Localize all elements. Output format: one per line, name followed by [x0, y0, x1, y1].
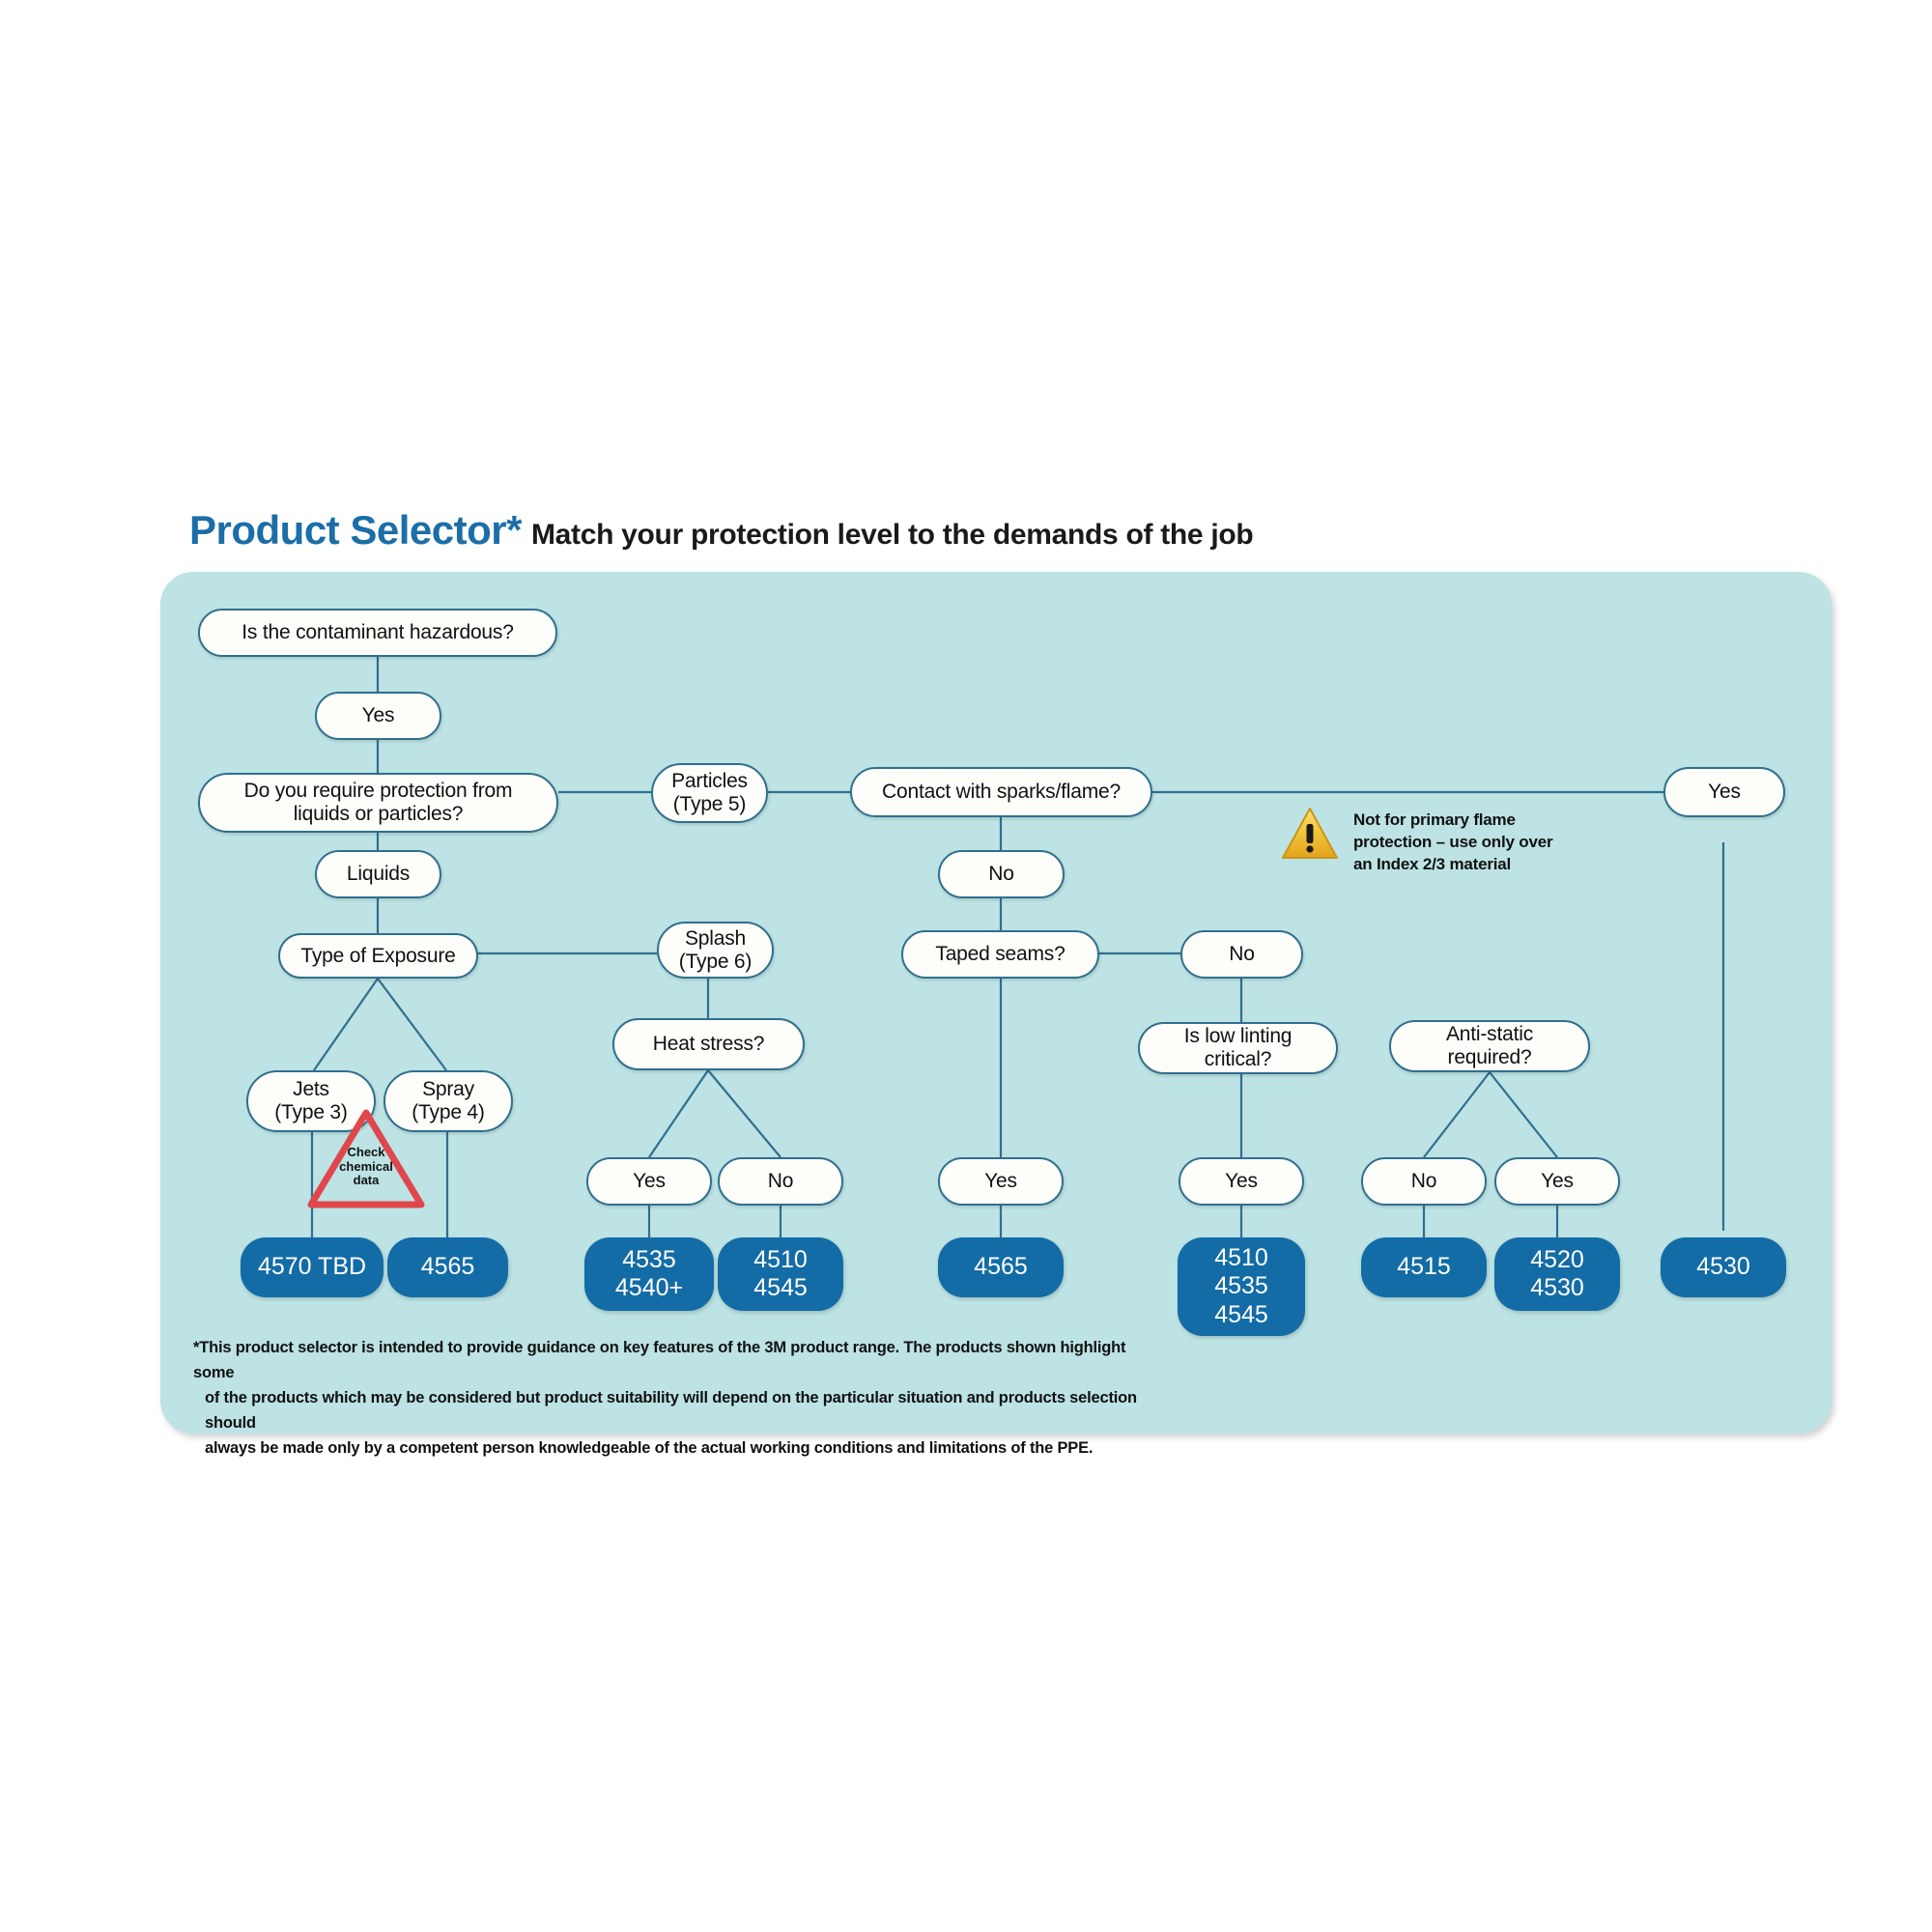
- node-answer-taped-seams-yes[interactable]: Yes: [938, 1157, 1064, 1206]
- product-box-flame-yes[interactable]: 4530: [1661, 1237, 1786, 1297]
- product-box-jets[interactable]: 4570 TBD: [241, 1237, 384, 1297]
- check-chemical-data-warning: Check chemical data: [305, 1107, 427, 1211]
- flame-warning-note: Not for primary flame protection – use o…: [1280, 806, 1552, 876]
- node-label: Liquids: [347, 863, 410, 886]
- product-box-taped-yes[interactable]: 4565: [938, 1237, 1064, 1297]
- node-label: No: [1411, 1170, 1436, 1193]
- node-label: Anti-static required?: [1446, 1023, 1533, 1068]
- footnote-line-2: of the products which may be considered …: [193, 1385, 1169, 1435]
- node-label: Yes: [633, 1170, 666, 1193]
- node-answer-yes-sparks[interactable]: Yes: [1663, 767, 1785, 817]
- node-label: Contact with sparks/flame?: [882, 781, 1121, 804]
- node-question-liquids-or-particles[interactable]: Do you require protection from liquids o…: [198, 773, 558, 833]
- node-answer-splash-type6[interactable]: Splash (Type 6): [657, 922, 774, 979]
- node-label: Particles (Type 5): [671, 770, 748, 815]
- node-question-hazardous[interactable]: Is the contaminant hazardous?: [198, 609, 557, 657]
- node-question-type-of-exposure[interactable]: Type of Exposure: [278, 933, 478, 979]
- node-label: Splash (Type 6): [679, 927, 752, 973]
- node-label: Yes: [984, 1170, 1017, 1193]
- product-box-heat-yes[interactable]: 4535 4540+: [584, 1237, 714, 1311]
- page-title: Product Selector* Match your protection …: [189, 507, 1253, 554]
- footnote: *This product selector is intended to pr…: [193, 1335, 1169, 1461]
- node-answer-anti-static-yes[interactable]: Yes: [1494, 1157, 1620, 1206]
- node-answer-low-linting-yes[interactable]: Yes: [1179, 1157, 1304, 1206]
- flame-warning-text: Not for primary flame protection – use o…: [1353, 806, 1552, 876]
- node-label: Yes: [1541, 1170, 1574, 1193]
- node-label: No: [768, 1170, 793, 1193]
- node-question-anti-static[interactable]: Anti-static required?: [1389, 1020, 1590, 1072]
- node-answer-liquids[interactable]: Liquids: [315, 850, 441, 898]
- node-answer-no-taped-seams[interactable]: No: [1180, 930, 1303, 979]
- node-label: Is low linting critical?: [1184, 1025, 1293, 1070]
- node-question-taped-seams[interactable]: Taped seams?: [901, 930, 1099, 979]
- node-answer-anti-static-no[interactable]: No: [1361, 1157, 1487, 1206]
- product-box-anti-static-no[interactable]: 4515: [1361, 1237, 1487, 1297]
- node-question-low-linting[interactable]: Is low linting critical?: [1138, 1022, 1338, 1074]
- node-answer-heat-stress-yes[interactable]: Yes: [586, 1157, 712, 1206]
- node-label: No: [988, 863, 1013, 886]
- node-answer-particles-type5[interactable]: Particles (Type 5): [651, 763, 768, 823]
- node-label: No: [1229, 943, 1254, 966]
- page-title-subtitle: Match your protection level to the deman…: [531, 519, 1254, 552]
- node-answer-heat-stress-no[interactable]: No: [718, 1157, 843, 1206]
- footnote-line-1: *This product selector is intended to pr…: [193, 1335, 1169, 1385]
- node-question-sparks-flame[interactable]: Contact with sparks/flame?: [850, 767, 1152, 817]
- product-box-spray[interactable]: 4565: [387, 1237, 508, 1297]
- node-label: Do you require protection from liquids o…: [244, 780, 513, 825]
- node-label: Is the contaminant hazardous?: [241, 621, 513, 644]
- product-box-heat-no[interactable]: 4510 4545: [718, 1237, 843, 1311]
- node-answer-yes-hazardous[interactable]: Yes: [315, 692, 441, 740]
- node-label: Yes: [1225, 1170, 1258, 1193]
- node-question-heat-stress[interactable]: Heat stress?: [612, 1018, 805, 1070]
- warning-triangle-icon: [1280, 806, 1340, 862]
- page-title-main: Product Selector*: [189, 507, 522, 554]
- footnote-line-3: always be made only by a competent perso…: [193, 1435, 1169, 1461]
- node-label: Heat stress?: [653, 1033, 764, 1056]
- node-label: Yes: [1708, 781, 1741, 804]
- node-answer-no-sparks[interactable]: No: [938, 850, 1065, 898]
- product-box-anti-static-yes[interactable]: 4520 4530: [1494, 1237, 1620, 1311]
- product-selector-page: Product Selector* Match your protection …: [0, 0, 1932, 1932]
- node-label: Yes: [362, 704, 395, 727]
- product-box-low-linting-yes[interactable]: 4510 4535 4545: [1178, 1237, 1305, 1336]
- node-label: Type of Exposure: [300, 945, 455, 968]
- check-chemical-data-label: Check chemical data: [305, 1146, 427, 1188]
- node-label: Taped seams?: [935, 943, 1065, 966]
